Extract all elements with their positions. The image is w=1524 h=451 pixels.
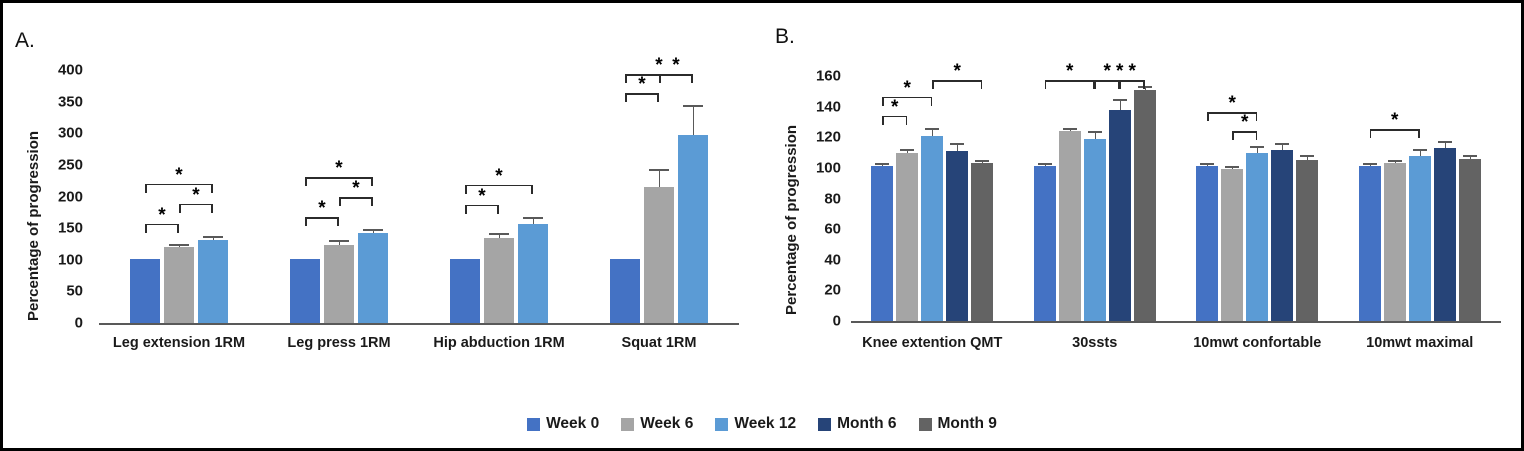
error-bar-cap <box>1413 149 1427 151</box>
bar-week-12 <box>1246 153 1268 321</box>
significance-marker: * <box>954 62 961 81</box>
bar-week-0 <box>1196 166 1218 321</box>
error-bar <box>1145 88 1146 90</box>
y-tick-50: 50 <box>66 284 83 299</box>
panel-a-plot-area: *********** <box>99 70 739 325</box>
error-bar-cap <box>1300 155 1314 157</box>
error-bar-cap <box>1275 143 1289 145</box>
error-bar-cap <box>1200 163 1214 165</box>
error-bar-cap <box>1113 99 1127 101</box>
bar-week-6 <box>1221 169 1243 321</box>
error-bar-cap <box>1225 166 1239 168</box>
panel-a: A. Percentage of progression 40035030025… <box>3 3 765 393</box>
bar-week-12 <box>358 233 388 323</box>
significance-marker: * <box>318 199 325 218</box>
error-bar <box>1207 165 1208 167</box>
error-bar-cap <box>203 236 222 238</box>
legend-item-week-0[interactable]: Week 0 <box>527 415 599 433</box>
error-bar <box>932 130 933 136</box>
error-bar-cap <box>1463 155 1477 157</box>
bar-month-6 <box>1271 150 1293 322</box>
x-category-label: Knee extention QMT <box>850 335 1015 352</box>
x-category-label: Leg press 1RM <box>254 335 424 352</box>
x-category-label: 30ssts <box>1012 335 1177 352</box>
panel-a-letter: A. <box>15 29 35 53</box>
significance-marker: * <box>1129 62 1136 81</box>
y-tick-0: 0 <box>833 314 841 329</box>
significance-marker: * <box>335 159 342 178</box>
error-bar <box>1257 148 1258 153</box>
bar-week-0 <box>290 259 320 324</box>
panel-a-x-axis-line <box>99 323 739 325</box>
legend-item-week-12[interactable]: Week 12 <box>715 415 796 433</box>
error-bar <box>882 165 883 167</box>
bar-week-0 <box>1034 166 1056 321</box>
bar-week-6 <box>324 245 354 323</box>
bar-week-12 <box>1409 156 1431 321</box>
significance-marker: * <box>655 56 662 75</box>
error-bar <box>1307 157 1308 160</box>
bar-month-9 <box>1134 90 1156 321</box>
panel-b-plot-area: ********** <box>851 76 1501 323</box>
panel-b: B. Percentage of progression 16014012010… <box>765 3 1524 393</box>
error-bar <box>1282 145 1283 150</box>
bar-week-6 <box>896 153 918 321</box>
y-tick-300: 300 <box>58 126 83 141</box>
legend-item-month-6[interactable]: Month 6 <box>818 415 896 433</box>
error-bar <box>693 107 694 134</box>
error-bar <box>339 242 340 245</box>
bar-week-0 <box>1359 166 1381 321</box>
error-bar-cap <box>1038 163 1052 165</box>
x-category-label: Hip abduction 1RM <box>414 335 584 352</box>
bar-week-6 <box>1059 131 1081 321</box>
error-bar <box>1445 143 1446 148</box>
error-bar <box>1470 157 1471 159</box>
y-tick-140: 140 <box>816 99 841 114</box>
significance-marker: * <box>904 79 911 98</box>
error-bar-cap <box>169 244 188 246</box>
y-tick-160: 160 <box>816 69 841 84</box>
significance-marker: * <box>1116 62 1123 81</box>
significance-marker: * <box>158 206 165 225</box>
error-bar-cap <box>975 160 989 162</box>
error-bar <box>1232 168 1233 170</box>
error-bar <box>1120 101 1121 110</box>
legend-swatch-icon <box>818 418 831 431</box>
error-bar <box>907 151 908 153</box>
bar-week-6 <box>644 187 674 323</box>
x-category-label: 10mwt maximal <box>1337 335 1502 352</box>
legend-swatch-icon <box>715 418 728 431</box>
panel-a-y-tick-labels: 400350300250200150100500 <box>37 70 83 323</box>
significance-marker: * <box>1066 62 1073 81</box>
error-bar-cap <box>329 240 348 242</box>
bar-month-9 <box>1296 160 1318 321</box>
error-bar-cap <box>1363 163 1377 165</box>
error-bar <box>213 238 214 241</box>
error-bar-cap <box>363 229 382 231</box>
error-bar-cap <box>1438 141 1452 143</box>
legend-item-week-6[interactable]: Week 6 <box>621 415 693 433</box>
error-bar <box>1370 165 1371 167</box>
error-bar <box>1395 162 1396 164</box>
error-bar-cap <box>1388 160 1402 162</box>
x-category-label: Leg extension 1RM <box>94 335 264 352</box>
bar-week-12 <box>198 240 228 323</box>
significance-marker: * <box>1229 94 1236 113</box>
error-bar <box>1420 151 1421 156</box>
error-bar <box>1070 130 1071 132</box>
panel-b-x-axis-line <box>851 321 1501 323</box>
x-category-label: Squat 1RM <box>574 335 744 352</box>
error-bar-cap <box>925 128 939 130</box>
error-bar-cap <box>1088 131 1102 133</box>
bar-month-9 <box>971 163 993 321</box>
bar-week-0 <box>610 259 640 324</box>
legend-item-month-9[interactable]: Month 9 <box>919 415 997 433</box>
y-tick-40: 40 <box>824 252 841 267</box>
error-bar <box>179 246 180 247</box>
error-bar-cap <box>523 217 542 219</box>
error-bar <box>659 171 660 187</box>
legend-label: Week 12 <box>734 415 796 433</box>
x-category-label: 10mwt confortable <box>1175 335 1340 352</box>
error-bar-cap <box>900 149 914 151</box>
legend-label: Month 9 <box>938 415 997 433</box>
legend-label: Week 0 <box>546 415 599 433</box>
bar-week-6 <box>1384 163 1406 321</box>
panel-b-y-tick-labels: 160140120100806040200 <box>795 76 841 321</box>
bar-week-0 <box>871 166 893 321</box>
error-bar <box>957 145 958 151</box>
error-bar-cap <box>1063 128 1077 130</box>
legend-label: Month 6 <box>837 415 896 433</box>
bar-week-0 <box>450 259 480 324</box>
error-bar-cap <box>683 105 702 107</box>
bar-month-6 <box>946 151 968 321</box>
error-bar-cap <box>1250 146 1264 148</box>
figure-container: A. Percentage of progression 40035030025… <box>0 0 1524 451</box>
bar-week-0 <box>130 259 160 324</box>
bar-month-9 <box>1459 159 1481 321</box>
bar-week-12 <box>678 135 708 323</box>
y-tick-250: 250 <box>58 157 83 172</box>
error-bar <box>533 219 534 224</box>
legend-label: Week 6 <box>640 415 693 433</box>
legend-swatch-icon <box>919 418 932 431</box>
significance-marker: * <box>1391 111 1398 130</box>
error-bar <box>1045 165 1046 167</box>
bar-month-6 <box>1434 148 1456 321</box>
error-bar-cap <box>875 163 889 165</box>
error-bar <box>373 231 374 233</box>
bar-week-12 <box>518 224 548 323</box>
legend: Week 0Week 6Week 12Month 6Month 9 <box>3 410 1521 438</box>
bar-week-12 <box>921 136 943 321</box>
y-tick-400: 400 <box>58 63 83 78</box>
y-tick-150: 150 <box>58 221 83 236</box>
bar-week-12 <box>1084 139 1106 321</box>
y-tick-80: 80 <box>824 191 841 206</box>
y-tick-100: 100 <box>816 160 841 175</box>
error-bar <box>1095 133 1096 139</box>
panel-b-letter: B. <box>775 25 795 49</box>
y-tick-60: 60 <box>824 222 841 237</box>
legend-swatch-icon <box>527 418 540 431</box>
error-bar <box>499 235 500 238</box>
y-tick-0: 0 <box>75 316 83 331</box>
significance-marker: * <box>1104 62 1111 81</box>
bar-month-6 <box>1109 110 1131 321</box>
bar-week-6 <box>484 238 514 323</box>
error-bar-cap <box>649 169 668 171</box>
y-tick-350: 350 <box>58 94 83 109</box>
y-tick-100: 100 <box>58 252 83 267</box>
significance-marker: * <box>175 166 182 185</box>
y-tick-200: 200 <box>58 189 83 204</box>
error-bar-cap <box>950 143 964 145</box>
error-bar <box>982 162 983 164</box>
significance-marker: * <box>672 56 679 75</box>
y-tick-120: 120 <box>816 130 841 145</box>
error-bar-cap <box>489 233 508 235</box>
y-tick-20: 20 <box>824 283 841 298</box>
legend-swatch-icon <box>621 418 634 431</box>
significance-marker: * <box>495 167 502 186</box>
bar-week-6 <box>164 247 194 323</box>
